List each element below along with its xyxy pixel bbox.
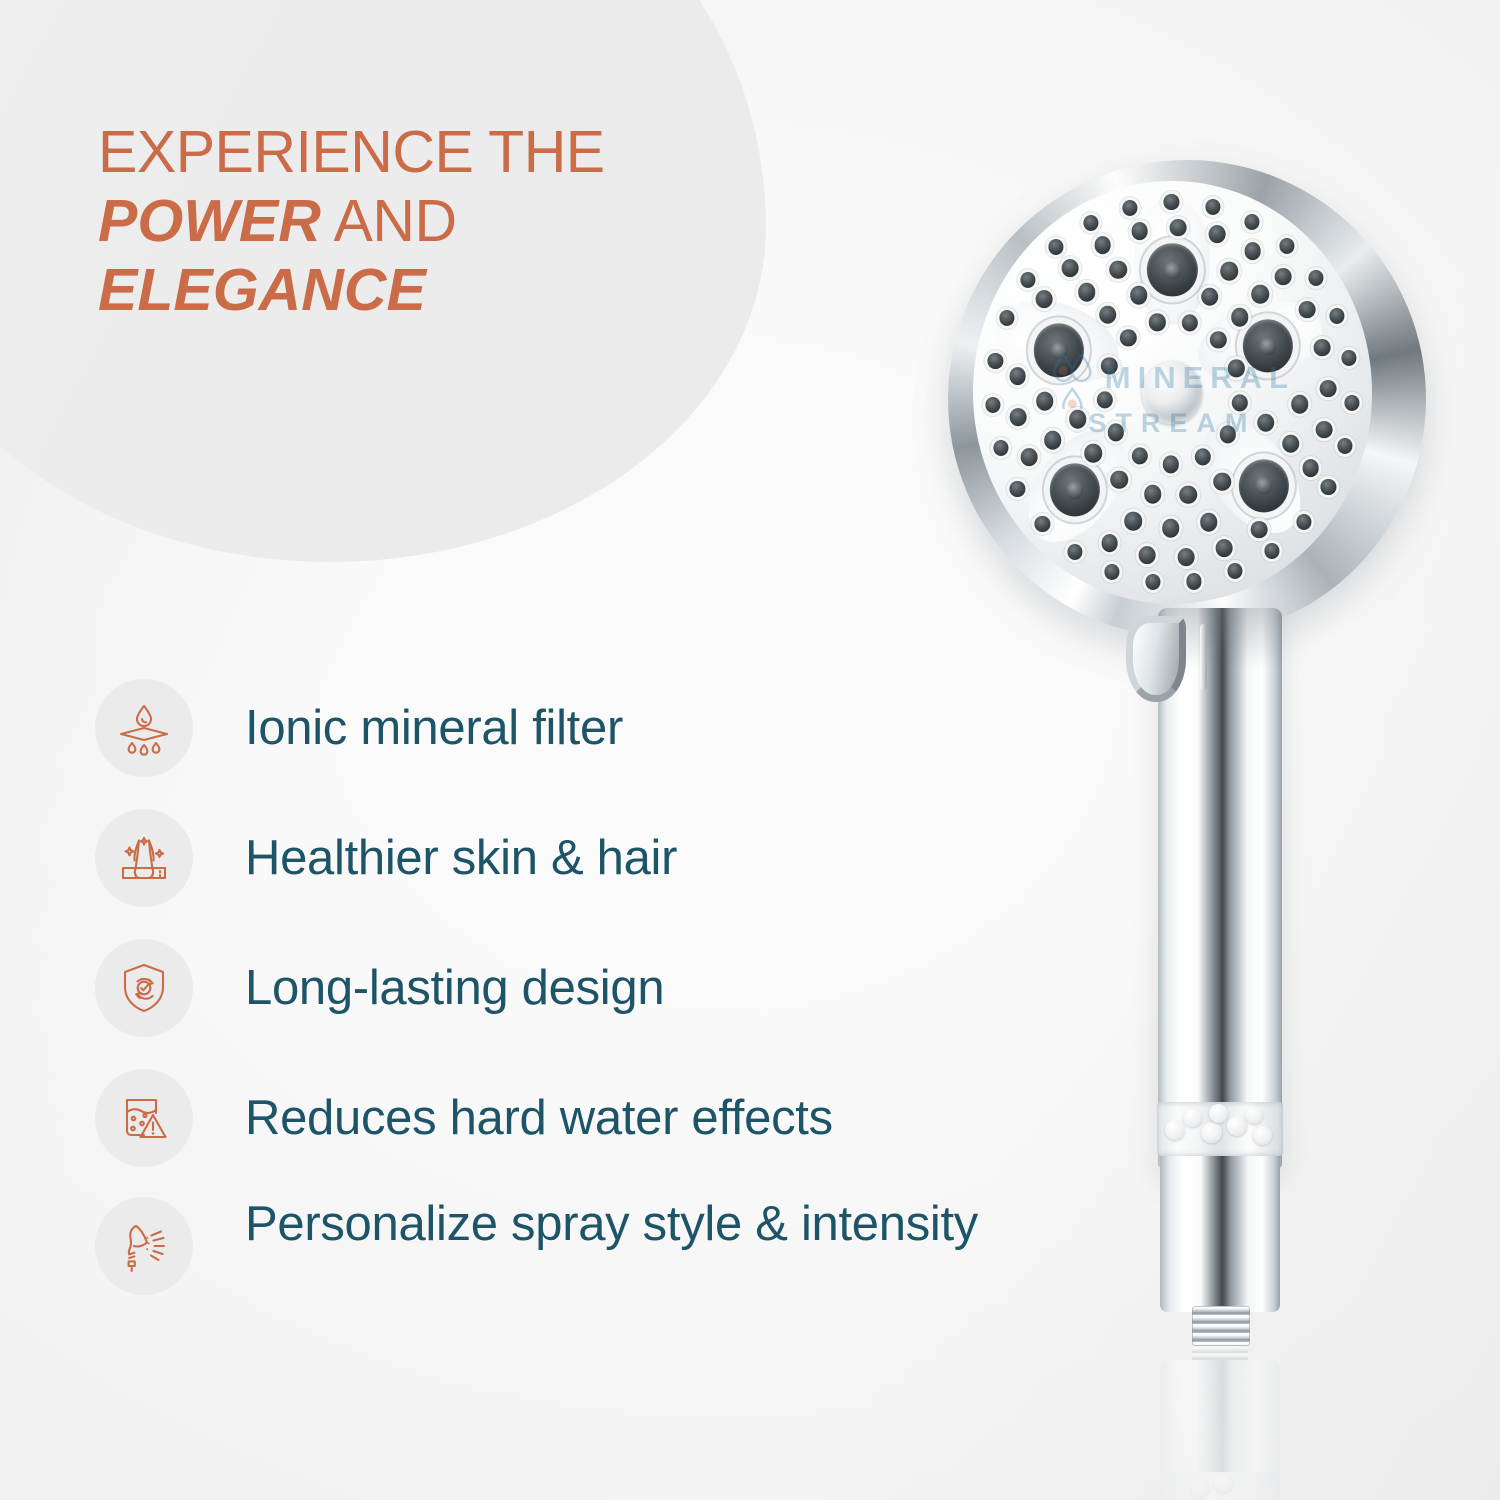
product-image-handheld-shower-head: MINERAL STREAM xyxy=(930,150,1450,1500)
feature-item-ionic-mineral-filter: Ionic mineral filter xyxy=(95,663,1055,793)
small-nozzle xyxy=(1320,380,1337,398)
mineral-bead-window xyxy=(1157,1102,1283,1156)
headline-power-emphasis: POWER xyxy=(98,188,321,254)
shower-spray-icon xyxy=(95,1197,193,1295)
feature-label: Long-lasting design xyxy=(245,961,664,1016)
handle-slot-detail xyxy=(1200,624,1207,690)
feature-label: Ionic mineral filter xyxy=(245,701,623,756)
feature-item-reduces-hard-water: Reduces hard water effects xyxy=(95,1053,1055,1183)
small-nozzle xyxy=(1139,546,1156,564)
feature-item-long-lasting-design: Long-lasting design xyxy=(95,923,1055,1053)
small-nozzle xyxy=(1131,222,1148,240)
headline-line-1-text: EXPERIENCE THE xyxy=(98,119,605,185)
small-nozzle xyxy=(1252,285,1270,304)
small-nozzle xyxy=(1244,242,1261,260)
shower-head-face-assembly: MINERAL STREAM xyxy=(948,160,1426,638)
headline-line-2: POWER AND xyxy=(98,187,798,256)
small-nozzle xyxy=(1275,268,1292,286)
small-nozzle xyxy=(1099,305,1117,324)
small-nozzle xyxy=(1170,219,1187,237)
feature-label: Healthier skin & hair xyxy=(245,831,677,886)
small-nozzle xyxy=(1162,519,1180,538)
hair-follicle-icon xyxy=(95,809,193,907)
small-nozzle xyxy=(1257,414,1275,433)
feature-label: Personalize spray style & intensity xyxy=(245,1197,978,1252)
small-nozzle xyxy=(1130,286,1148,305)
headline-line-1: EXPERIENCE THE xyxy=(98,118,798,187)
small-nozzle xyxy=(1178,548,1195,566)
mineral-bead xyxy=(1201,1122,1222,1143)
reflection-bead xyxy=(1214,1474,1233,1493)
small-nozzle xyxy=(1009,367,1026,385)
face-center-hub xyxy=(1142,361,1202,424)
small-nozzle xyxy=(1282,434,1300,453)
small-nozzle xyxy=(1021,448,1038,466)
small-nozzle xyxy=(1110,261,1128,280)
headline-line-3: ELEGANCE xyxy=(98,256,798,325)
reflection-bead xyxy=(1204,1492,1223,1500)
headline-elegance-emphasis: ELEGANCE xyxy=(98,257,426,323)
feature-label: Reduces hard water effects xyxy=(245,1091,833,1146)
mineral-bead xyxy=(1227,1116,1247,1136)
small-nozzle xyxy=(1180,485,1198,504)
feature-item-personalize-spray: Personalize spray style & intensity xyxy=(95,1183,1055,1327)
mineral-bead xyxy=(1183,1108,1202,1127)
shield-check-cycle-icon xyxy=(95,939,193,1037)
small-nozzle xyxy=(1299,301,1316,319)
small-nozzle xyxy=(1213,472,1231,491)
mineral-bead xyxy=(1253,1126,1272,1145)
small-nozzle xyxy=(1251,521,1268,539)
small-nozzle xyxy=(1200,513,1218,532)
handle-hook-clip xyxy=(1126,616,1186,702)
small-nozzle xyxy=(1291,395,1309,414)
small-nozzle xyxy=(1144,485,1162,504)
mineral-bead xyxy=(1165,1120,1185,1140)
hard-water-warning-icon xyxy=(95,1069,193,1167)
small-nozzle xyxy=(1094,236,1111,254)
small-nozzle xyxy=(1036,290,1053,308)
small-nozzle xyxy=(1231,308,1249,327)
feature-item-healthier-skin-hair: Healthier skin & hair xyxy=(95,793,1055,923)
small-nozzle xyxy=(1316,421,1333,439)
product-reflection xyxy=(1152,1346,1288,1500)
small-nozzle xyxy=(1209,226,1226,244)
small-nozzle xyxy=(1111,470,1129,489)
small-nozzle xyxy=(1062,259,1079,277)
water-filter-icon xyxy=(95,679,193,777)
small-nozzle xyxy=(1302,460,1319,478)
small-nozzle xyxy=(1216,539,1233,557)
reflection-bead-window xyxy=(1160,1472,1280,1500)
small-nozzle xyxy=(1036,392,1054,411)
threaded-connector xyxy=(1192,1306,1250,1346)
small-nozzle xyxy=(1314,339,1331,357)
shower-handle-lower xyxy=(1160,1150,1280,1312)
nozzle-face: MINERAL STREAM xyxy=(973,181,1372,604)
headline-and-text: AND xyxy=(321,188,457,254)
small-nozzle xyxy=(1084,444,1102,463)
mineral-bead xyxy=(1209,1104,1228,1123)
product-feature-poster: EXPERIENCE THE POWER AND ELEGANCE Ioni xyxy=(0,0,1500,1500)
small-nozzle xyxy=(1220,262,1238,281)
mineral-bead xyxy=(1245,1106,1263,1124)
small-nozzle xyxy=(1010,408,1027,426)
small-nozzle xyxy=(1201,287,1219,306)
headline: EXPERIENCE THE POWER AND ELEGANCE xyxy=(98,118,798,325)
small-nozzle xyxy=(1078,283,1096,302)
shower-handle-upper xyxy=(1158,608,1282,1168)
small-nozzle xyxy=(1044,431,1062,450)
feature-list: Ionic mineral filter Healthier skin xyxy=(95,663,1055,1327)
small-nozzle xyxy=(1069,410,1087,429)
small-nozzle xyxy=(1101,535,1118,553)
small-nozzle xyxy=(1124,512,1142,531)
